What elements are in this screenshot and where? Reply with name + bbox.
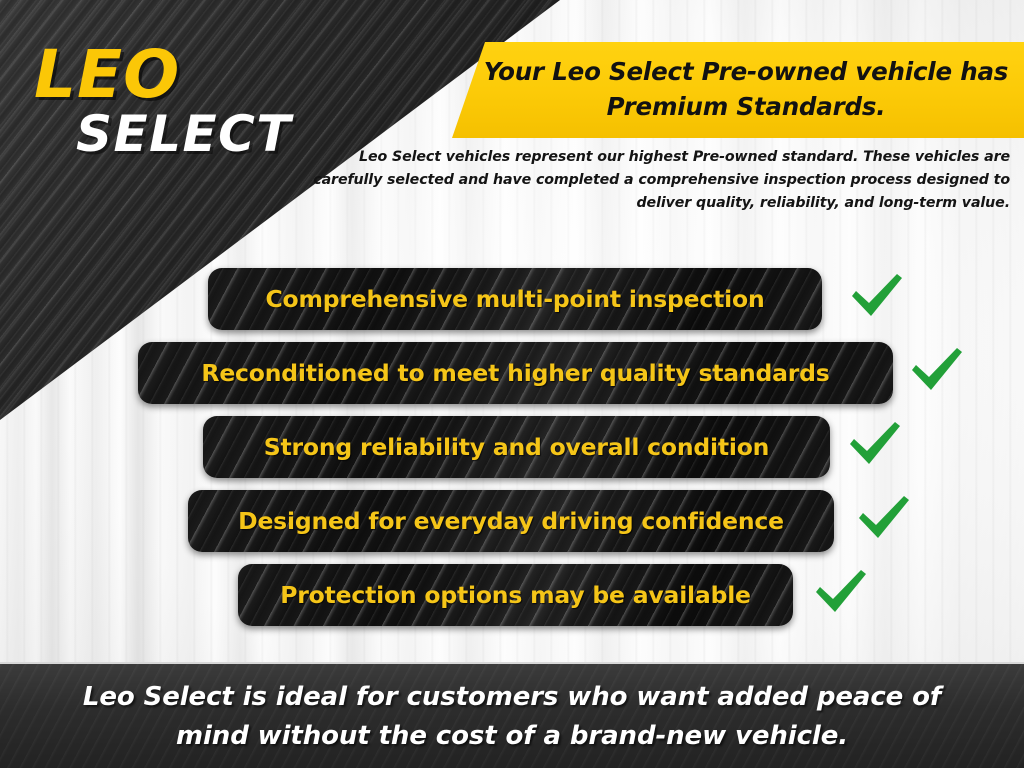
feature-row: Protection options may be available — [0, 564, 1024, 638]
footer-tagline: Leo Select is ideal for customers who wa… — [72, 678, 952, 756]
check-icon — [812, 566, 870, 618]
feature-label: Comprehensive multi-point inspection — [265, 285, 764, 313]
feature-pill: Protection options may be available — [238, 564, 793, 626]
leo-select-promo-poster: LEO SELECT Your Leo Select Pre-owned veh… — [0, 0, 1024, 768]
check-icon — [855, 492, 913, 544]
feature-label: Strong reliability and overall condition — [264, 433, 769, 461]
feature-row: Comprehensive multi-point inspection — [0, 268, 1024, 342]
check-icon — [908, 344, 966, 396]
feature-pill: Strong reliability and overall condition — [203, 416, 830, 478]
feature-label: Designed for everyday driving confidence — [238, 507, 784, 535]
feature-label: Protection options may be available — [280, 581, 751, 609]
check-icon — [846, 418, 904, 470]
feature-pill: Comprehensive multi-point inspection — [208, 268, 822, 330]
logo-word-leo: LEO — [34, 44, 334, 107]
feature-pill: Designed for everyday driving confidence — [188, 490, 834, 552]
brand-logo: LEO SELECT — [34, 44, 334, 159]
feature-row: Reconditioned to meet higher quality sta… — [0, 342, 1024, 416]
feature-pill: Reconditioned to meet higher quality sta… — [138, 342, 893, 404]
feature-row: Designed for everyday driving confidence — [0, 490, 1024, 564]
feature-row: Strong reliability and overall condition — [0, 416, 1024, 490]
footer-bar: Leo Select is ideal for customers who wa… — [0, 662, 1024, 768]
headline-banner: Your Leo Select Pre-owned vehicle has Pr… — [452, 42, 1024, 138]
headline-text: Your Leo Select Pre-owned vehicle has Pr… — [476, 55, 1016, 125]
intro-paragraph: Leo Select vehicles represent our highes… — [310, 146, 1010, 215]
logo-word-select: SELECT — [76, 109, 334, 159]
feature-label: Reconditioned to meet higher quality sta… — [201, 359, 829, 387]
feature-list: Comprehensive multi-point inspection Rec… — [0, 268, 1024, 638]
check-icon — [848, 270, 906, 322]
